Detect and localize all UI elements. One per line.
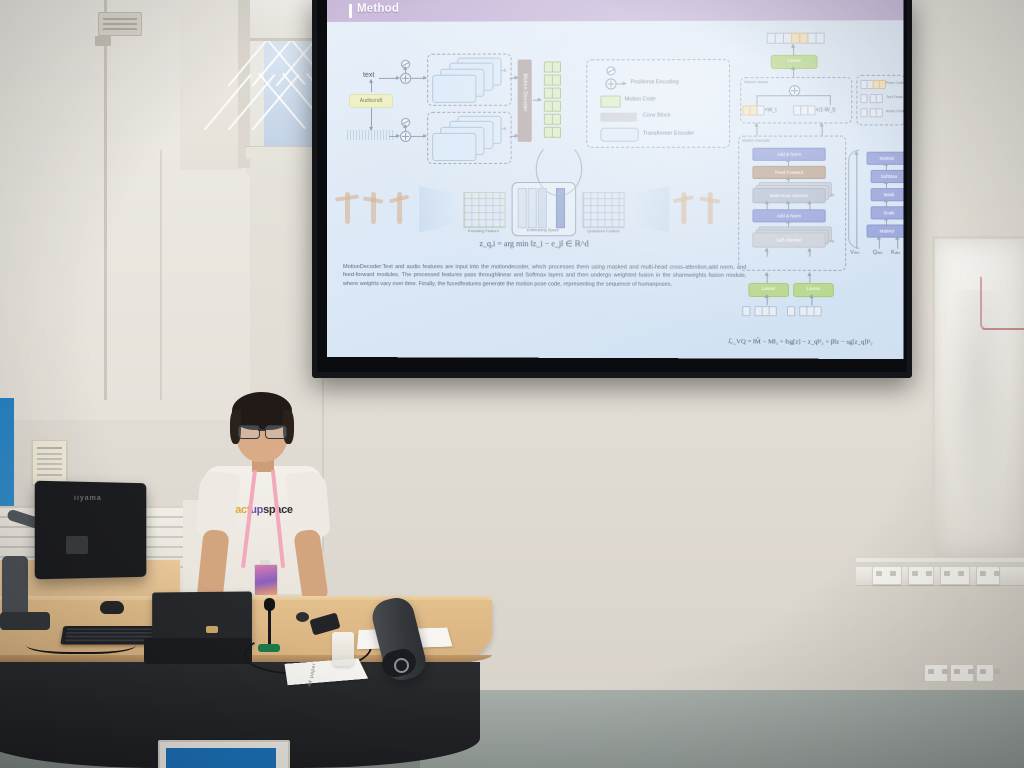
shirt-logo-text: actupspace xyxy=(222,504,306,516)
cable-bundle xyxy=(26,632,136,654)
wall-plate xyxy=(95,36,111,46)
desk-small-object[interactable] xyxy=(206,626,218,633)
wall-socket xyxy=(908,566,934,585)
wall-seam xyxy=(160,150,162,400)
wall-socket xyxy=(940,566,970,585)
wall-socket-lower xyxy=(950,664,974,682)
screenshot-root: Method text Audiocraft ×6 ×6 xyxy=(0,0,1024,768)
monitor-stand-base xyxy=(0,612,50,630)
small-round-device[interactable] xyxy=(296,612,309,622)
glasses-icon xyxy=(265,425,287,439)
monitor-brand-label: iiyama xyxy=(74,495,102,502)
monitor-arm-post xyxy=(2,556,28,618)
wall-socket-lower xyxy=(976,664,994,682)
mouse[interactable] xyxy=(100,601,124,614)
microphone-head[interactable] xyxy=(264,598,275,611)
wall-socket xyxy=(976,566,1000,585)
posted-notice xyxy=(32,440,67,485)
monitor-vesa-mount xyxy=(66,536,88,554)
laptop-screen[interactable] xyxy=(152,591,252,644)
conference-badge xyxy=(254,564,278,596)
projector-glare xyxy=(327,0,903,359)
wall-socket-lower xyxy=(924,664,948,682)
wall-beside-window xyxy=(180,0,242,170)
whiteboard-red-marks xyxy=(982,300,1024,330)
floor-right xyxy=(420,690,1024,768)
laptop-base[interactable] xyxy=(144,638,252,664)
window-glass xyxy=(264,30,316,148)
air-vent-icon xyxy=(98,12,142,36)
floor-sign-blue-band xyxy=(166,748,276,768)
wall-socket xyxy=(872,566,902,585)
glasses-icon xyxy=(238,425,260,439)
presentation-slide: Method text Audiocraft ×6 ×6 xyxy=(327,0,903,359)
trunking-top-rail xyxy=(856,558,1024,562)
paper-cup[interactable] xyxy=(332,632,354,666)
wall-seam xyxy=(104,0,107,400)
microphone-base xyxy=(258,644,280,652)
glasses-bridge xyxy=(258,429,265,431)
